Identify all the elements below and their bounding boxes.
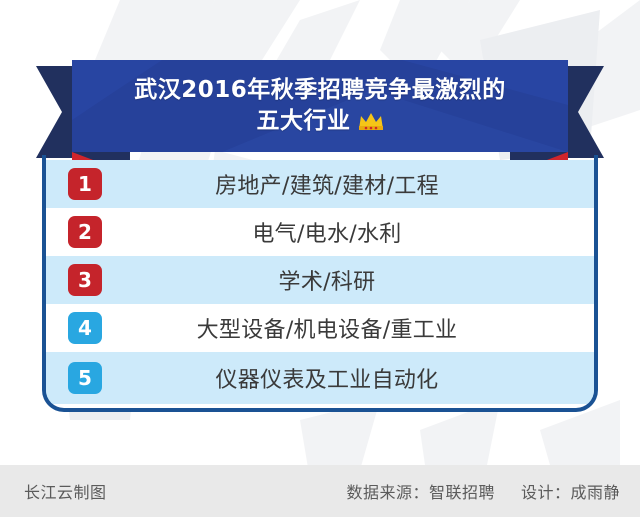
table-row[interactable]: 2 电气/电水/水利 <box>46 208 594 256</box>
banner-title-line-1: 武汉2016年秋季招聘竞争最激烈的 <box>134 77 506 104</box>
title-banner: 武汉2016年秋季招聘竞争最激烈的 五大行业 <box>0 40 640 160</box>
banner-sheen <box>72 60 568 152</box>
footer-designer: 设计：成雨静 <box>521 479 620 503</box>
industry-label: 仪器仪表及工业自动化 <box>46 362 594 394</box>
industry-label: 房地产/建筑/建材/工程 <box>46 168 594 200</box>
industry-label: 学术/科研 <box>46 264 594 296</box>
banner-title-line-2-row: 五大行业 <box>257 108 384 135</box>
industry-label: 大型设备/机电设备/重工业 <box>46 312 594 344</box>
infographic-page: 武汉2016年秋季招聘竞争最激烈的 五大行业 1 房 <box>0 0 640 517</box>
industry-label: 电气/电水/水利 <box>46 216 594 248</box>
table-row[interactable]: 5 仪器仪表及工业自动化 <box>46 352 594 404</box>
rank-badge: 2 <box>68 216 102 248</box>
crown-icon <box>358 111 384 131</box>
ranking-list: 1 房地产/建筑/建材/工程 2 电气/电水/水利 3 学术/科研 4 大型设备… <box>42 160 598 412</box>
banner-title-line-2: 五大行业 <box>257 108 351 135</box>
rank-badge: 4 <box>68 312 102 344</box>
footer-bar: 长江云制图 数据来源：智联招聘 设计：成雨静 <box>0 465 640 517</box>
table-row[interactable]: 1 房地产/建筑/建材/工程 <box>46 160 594 208</box>
table-row[interactable]: 4 大型设备/机电设备/重工业 <box>46 304 594 352</box>
rank-badge: 5 <box>68 362 102 394</box>
footer-meta: 数据来源：智联招聘 设计：成雨静 <box>346 479 620 503</box>
footer-source: 数据来源：智联招聘 <box>346 479 495 503</box>
rank-badge: 1 <box>68 168 102 200</box>
rank-badge: 3 <box>68 264 102 296</box>
banner-plate: 武汉2016年秋季招聘竞争最激烈的 五大行业 <box>72 60 568 152</box>
footer-credit: 长江云制图 <box>24 479 107 503</box>
table-row[interactable]: 3 学术/科研 <box>46 256 594 304</box>
